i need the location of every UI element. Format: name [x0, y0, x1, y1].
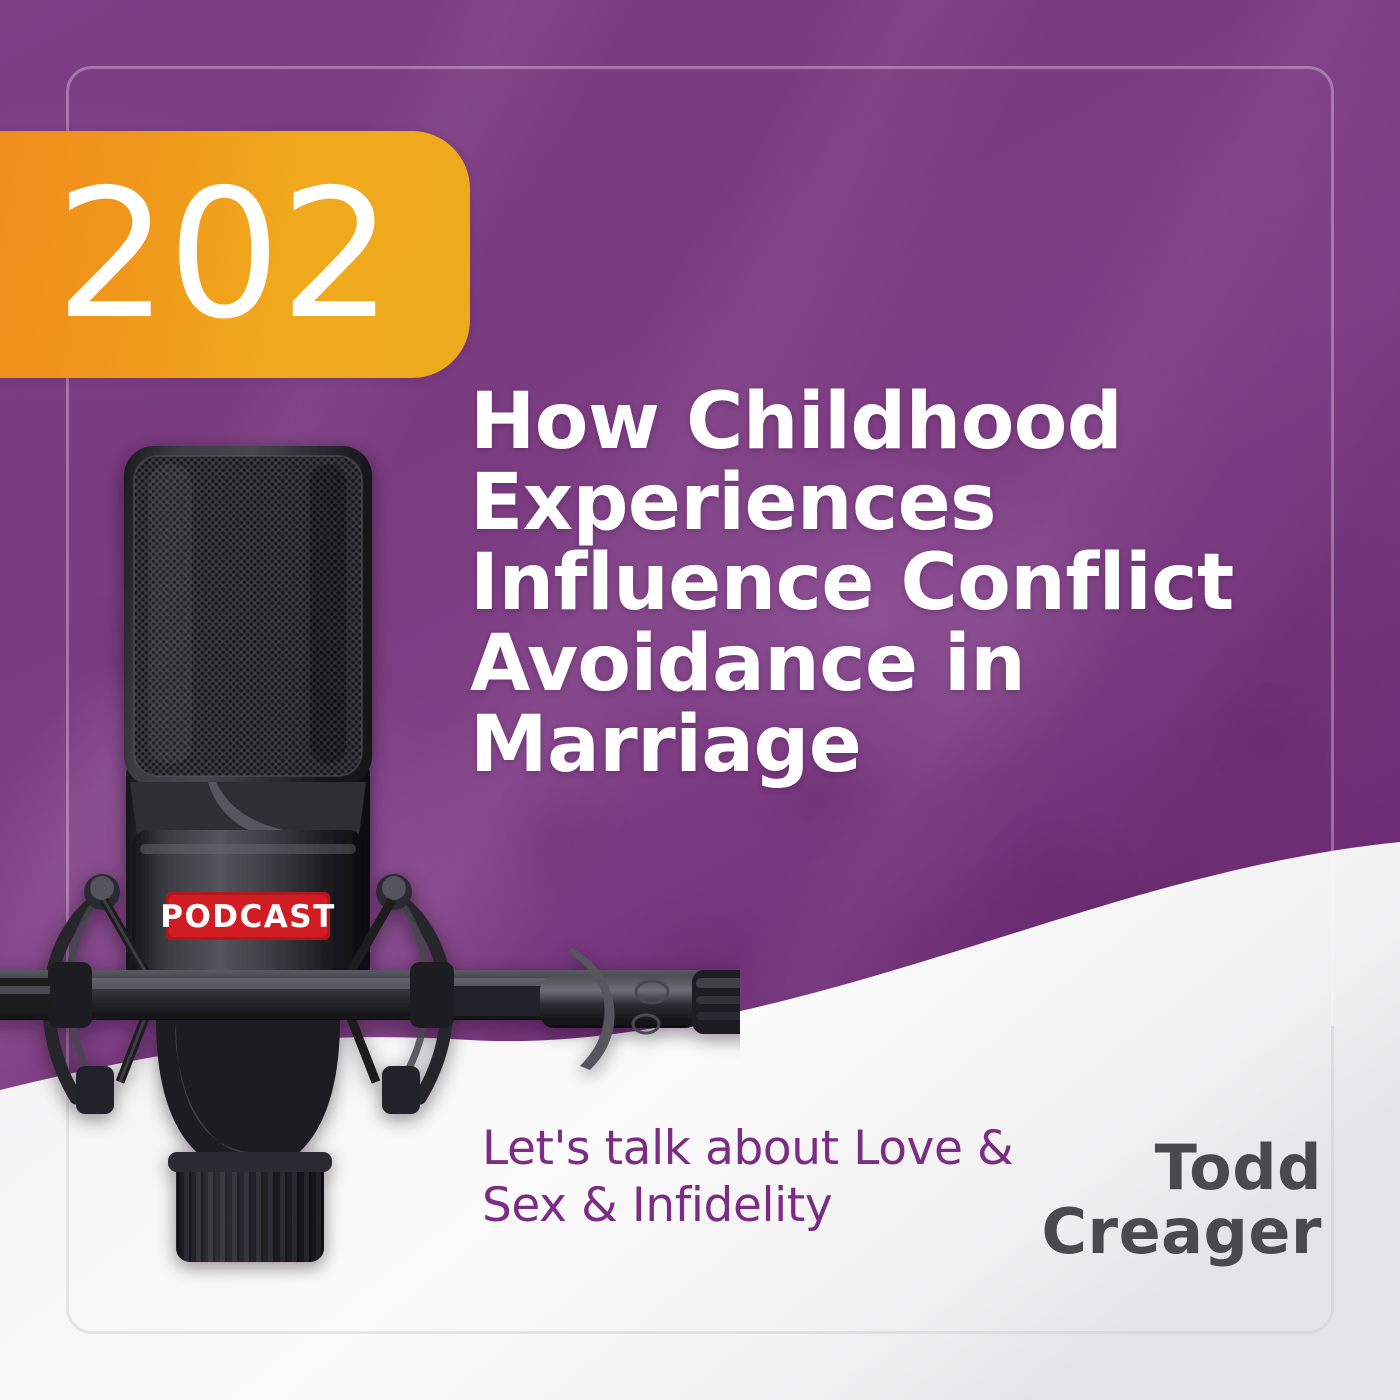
- svg-text:PODCAST: PODCAST: [160, 899, 336, 935]
- episode-number: 202: [55, 173, 392, 337]
- podcast-cover-art: PODCAST: [0, 0, 1400, 1400]
- episode-number-badge: 202: [0, 131, 470, 378]
- host-name: Todd Creager: [942, 1136, 1322, 1264]
- episode-title: How Childhood Experiences Influence Conf…: [470, 382, 1330, 786]
